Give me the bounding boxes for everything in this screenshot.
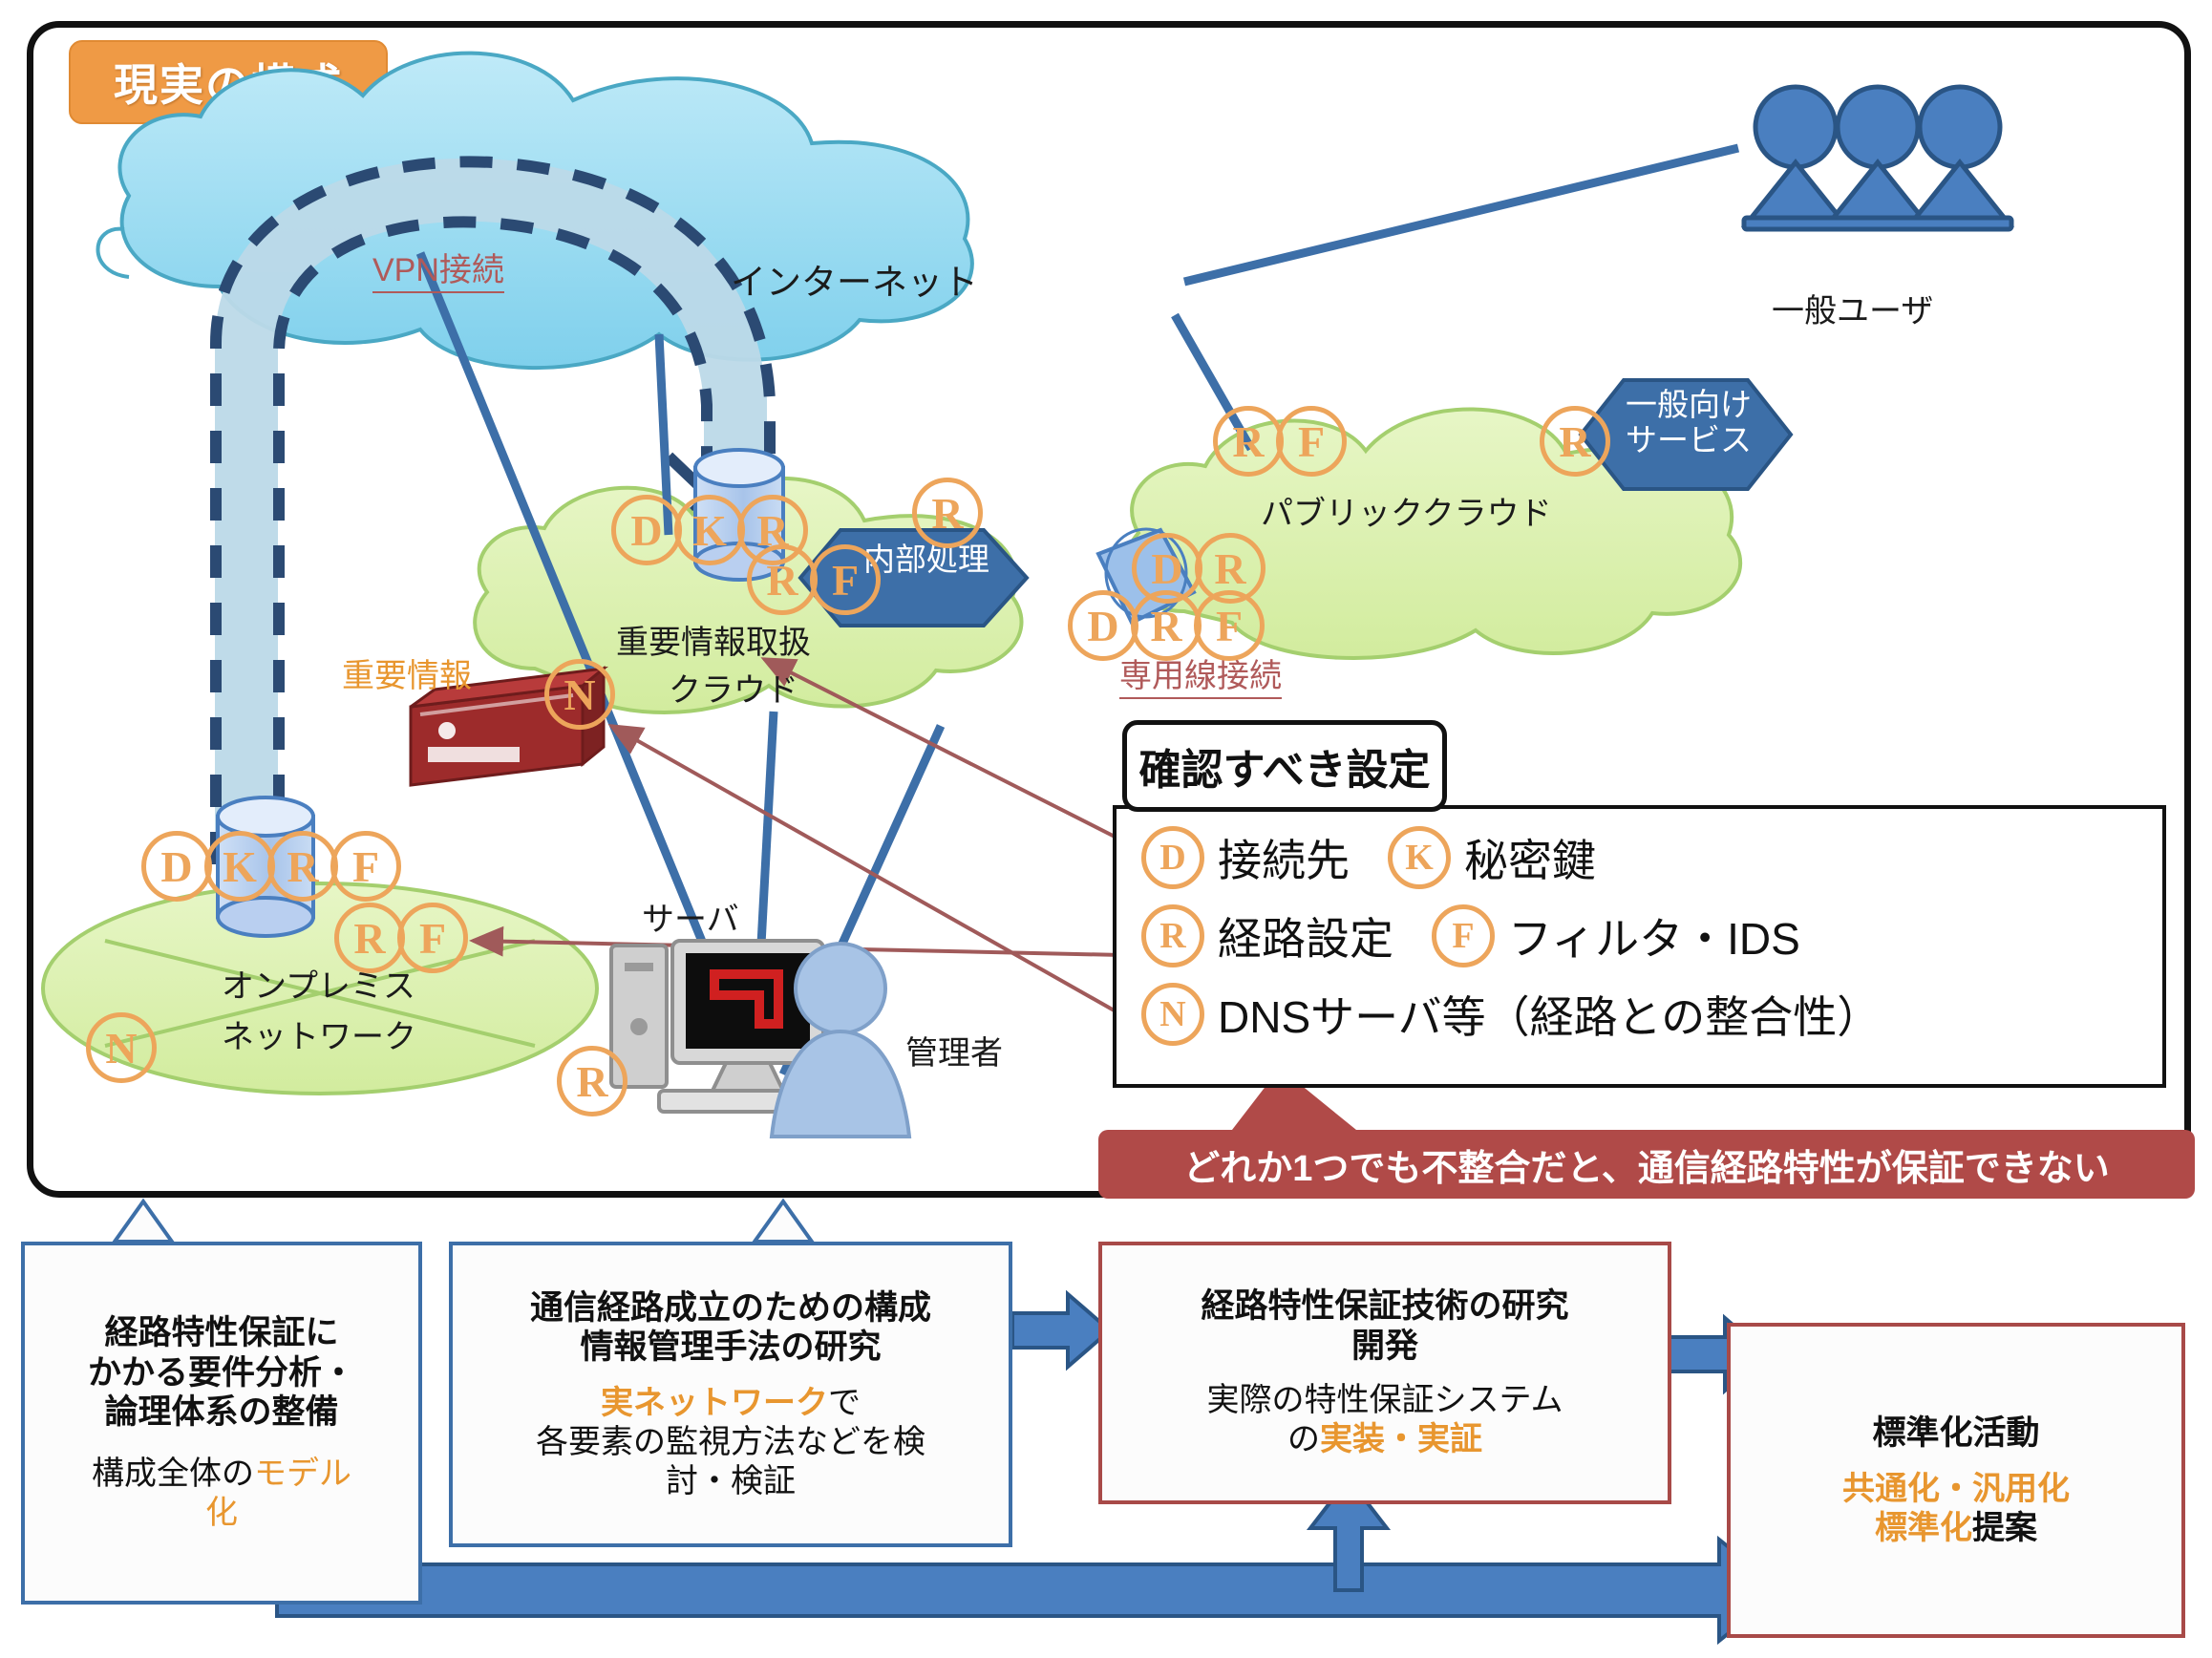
- callout-notch-box2: [755, 1201, 812, 1242]
- badge-r: R: [747, 544, 818, 615]
- badge-group-onprem-second: R F: [334, 903, 468, 973]
- legend-label-n: DNSサーバ等（経路との整合性）: [1218, 983, 1881, 1046]
- legend-title: 確認すべき設定: [1122, 720, 1447, 812]
- box2-sub: 実ネットワークで 各要素の監視方法などを検 討・検証: [536, 1384, 925, 1500]
- general-users-icon: [1744, 87, 2011, 229]
- box4-sub: 共通化・汎用化 標準化提案: [1842, 1470, 2070, 1548]
- badge-group-leased-bottom: D R F: [1068, 590, 1265, 661]
- legend-label-k: 秘密鍵: [1464, 826, 1596, 889]
- badge-public-service-r: R: [1540, 406, 1610, 477]
- box3-sub: 実際の特性保証システム の実装・実証: [1207, 1381, 1563, 1459]
- box4-title: 標準化活動: [1872, 1414, 2039, 1453]
- public-service-label-1: 一般向け: [1626, 387, 1752, 422]
- legend-pointer-secure: [764, 659, 1122, 840]
- legend-icon-f: F: [1432, 904, 1495, 967]
- research-box-4: 標準化活動 共通化・汎用化 標準化提案: [1727, 1323, 2185, 1638]
- badge-k: K: [674, 495, 745, 565]
- box1-title: 経路特性保証に かかる要件分析・ 論理体系の整備: [88, 1313, 355, 1432]
- box2-title: 通信経路成立のための構成 情報管理手法の研究: [530, 1288, 931, 1368]
- legend-label-d: 接続先: [1218, 826, 1350, 889]
- secure-cloud-label-1: 重要情報取扱: [616, 616, 811, 663]
- legend-icon-d: D: [1141, 826, 1204, 889]
- badge-onprem-dns-n: N: [86, 1012, 157, 1083]
- badge-d: D: [611, 495, 682, 565]
- badge-k: K: [204, 831, 275, 902]
- badge-d: D: [1068, 590, 1138, 661]
- legend-row-1: D 接続先 K 秘密鍵: [1141, 826, 2162, 889]
- badge-r: R: [1213, 406, 1284, 477]
- legend-icon-n: N: [1141, 983, 1204, 1046]
- admin-label: 管理者: [905, 1027, 1003, 1073]
- research-box-2: 通信経路成立のための構成 情報管理手法の研究 実ネットワークで 各要素の監視方法…: [449, 1242, 1012, 1547]
- callout-notch-box1: [115, 1201, 172, 1242]
- badge-onprem-router-r: R: [557, 1046, 627, 1116]
- badge-internal-processing-r: R: [912, 478, 983, 548]
- server-label: サーバ: [642, 893, 739, 940]
- public-cloud-label: パブリッククラウド: [1261, 487, 1552, 534]
- vpn-label: VPN接続: [372, 244, 504, 293]
- badge-group-public-top: R F: [1213, 406, 1347, 477]
- box3-title: 経路特性保証技術の研究 開発: [1201, 1286, 1568, 1366]
- badge-group-secure-second: R F: [747, 544, 881, 615]
- badge-f: F: [810, 544, 881, 615]
- badge-r: R: [267, 831, 338, 902]
- legend-row-2: R 経路設定 F フィルタ・IDS: [1141, 904, 2162, 967]
- badge-group-onprem-top: D K R F: [141, 831, 401, 902]
- box1-sub: 構成全体のモデル 化: [92, 1455, 351, 1533]
- badge-f: F: [330, 831, 401, 902]
- secure-cloud-label-2: クラウド: [669, 664, 798, 711]
- badge-f: F: [397, 903, 468, 973]
- badge-d: D: [141, 831, 212, 902]
- warning-banner: どれか1つでも不整合だと、通信経路特性が保証できない: [1098, 1130, 2195, 1199]
- general-users-label: 一般ユーザ: [1772, 285, 1933, 331]
- public-service-label-2: サービス: [1626, 422, 1752, 457]
- critical-info-label: 重要情報: [342, 649, 472, 696]
- badge-r: R: [334, 903, 405, 973]
- legend-box: D 接続先 K 秘密鍵 R 経路設定 F フィルタ・IDS N DNSサーバ等（…: [1113, 805, 2166, 1088]
- badge-critical-info-n: N: [544, 659, 615, 730]
- legend-label-r: 経路設定: [1218, 904, 1393, 967]
- badge-f: F: [1276, 406, 1347, 477]
- legend-label-f: フィルタ・IDS: [1508, 904, 1800, 967]
- internet-label: インターネット: [731, 253, 978, 305]
- research-box-1: 経路特性保証に かかる要件分析・ 論理体系の整備 構成全体のモデル 化: [21, 1242, 422, 1605]
- legend-icon-r: R: [1141, 904, 1204, 967]
- arrow-box2-to-box3: [1012, 1294, 1110, 1367]
- onprem-label-2: ネットワーク: [222, 1010, 416, 1057]
- badge-r: R: [1131, 590, 1202, 661]
- legend-row-3: N DNSサーバ等（経路との整合性）: [1141, 983, 2162, 1046]
- research-box-3: 経路特性保証技術の研究 開発 実際の特性保証システム の実装・実証: [1098, 1242, 1671, 1504]
- arrow-bottom-long: [277, 1540, 1782, 1641]
- line-users-internet: [1184, 148, 1738, 282]
- badge-f: F: [1194, 590, 1265, 661]
- legend-icon-k: K: [1388, 826, 1451, 889]
